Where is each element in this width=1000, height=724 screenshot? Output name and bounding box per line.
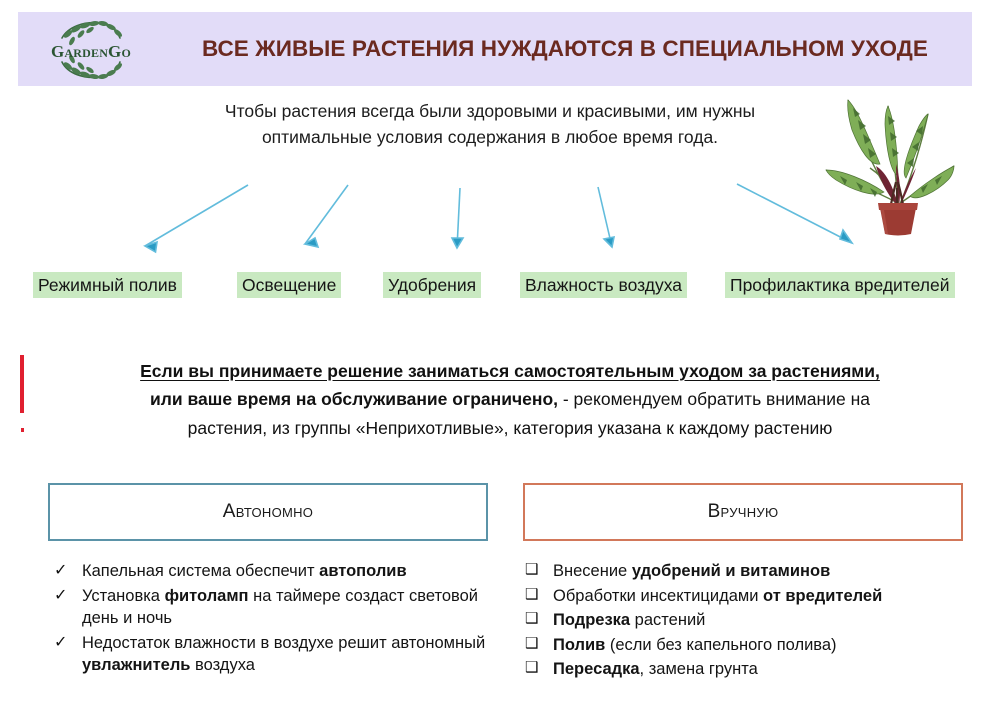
callout-line-2-bold: или ваше время на обслуживание ограничен… <box>150 389 558 409</box>
manual-list-item-text: Полив (если без капельного полива) <box>553 634 983 657</box>
autonomous-list-item-text: Капельная система обеспечит автополив <box>82 560 498 583</box>
arrow-line-1 <box>145 185 248 246</box>
manual-care-list: ❑Внесение удобрений и витаминов❑Обработк… <box>523 560 983 683</box>
autonomous-list-item[interactable]: ✓Капельная система обеспечит автополив <box>48 560 498 583</box>
autonomous-list-item[interactable]: ✓Установка фитоламп на таймере создаст с… <box>48 585 498 630</box>
callout-line-1: Если вы принимаете решение заниматься са… <box>140 361 880 381</box>
panel-manual-header[interactable]: Вручную <box>523 483 963 541</box>
manual-list-item[interactable]: ❑Пересадка, замена грунта <box>523 658 983 681</box>
subtitle-text: Чтобы растения всегда были здоровыми и к… <box>170 99 810 151</box>
arrow-head-4 <box>604 237 614 247</box>
check-mark-icon: ✓ <box>48 632 82 654</box>
callout-line-3: растения, из группы «Неприхотливые», кат… <box>188 418 833 438</box>
manual-list-item[interactable]: ❑Подрезка растений <box>523 609 983 632</box>
callout-text: Если вы принимаете решение заниматься са… <box>40 357 980 442</box>
arrow-head-3 <box>452 238 463 248</box>
arrow-head-1 <box>145 242 157 252</box>
arrow-line-3 <box>457 188 460 248</box>
manual-list-item[interactable]: ❑Полив (если без капельного полива) <box>523 634 983 657</box>
panel-autonomous-header[interactable]: Автономно <box>48 483 488 541</box>
check-mark-icon: ✓ <box>48 560 82 582</box>
empty-checkbox-icon[interactable]: ❑ <box>523 609 553 630</box>
autonomous-care-list: ✓Капельная система обеспечит автополив✓У… <box>48 560 498 679</box>
autonomous-list-item-text: Установка фитоламп на таймере создаст св… <box>82 585 498 630</box>
autonomous-list-item[interactable]: ✓Недостаток влажности в воздухе решит ав… <box>48 632 498 677</box>
empty-checkbox-icon[interactable]: ❑ <box>523 560 553 581</box>
empty-checkbox-icon[interactable]: ❑ <box>523 585 553 606</box>
quote-accent-dot <box>21 428 24 432</box>
panel-manual-title: Вручную <box>708 501 779 523</box>
subtitle-line-1: Чтобы растения всегда были здоровыми и к… <box>225 101 755 121</box>
callout-line-2-rest: - рекомендуем обратить внимание на <box>558 389 870 409</box>
manual-list-item-text: Внесение удобрений и витаминов <box>553 560 983 583</box>
brand-logo-text: GardenGo <box>32 42 150 62</box>
care-tag-fertilizer[interactable]: Удобрения <box>383 272 481 298</box>
quote-accent-bar <box>20 355 24 413</box>
page-title: ВСЕ ЖИВЫЕ РАСТЕНИЯ НУЖДАЮТСЯ В СПЕЦИАЛЬН… <box>165 12 965 86</box>
care-tag-watering[interactable]: Режимный полив <box>33 272 182 298</box>
care-tag-lighting[interactable]: Освещение <box>237 272 341 298</box>
panel-autonomous-title: Автономно <box>223 501 313 523</box>
manual-list-item[interactable]: ❑Обработки инсектицидами от вредителей <box>523 585 983 608</box>
empty-checkbox-icon[interactable]: ❑ <box>523 634 553 655</box>
empty-checkbox-icon[interactable]: ❑ <box>523 658 553 679</box>
brand-logo: GardenGo <box>32 16 150 84</box>
care-tag-list: Режимный полив Освещение Удобрения Влажн… <box>0 272 1000 298</box>
manual-list-item-text: Подрезка растений <box>553 609 983 632</box>
arrow-line-4 <box>598 187 612 247</box>
manual-list-item-text: Пересадка, замена грунта <box>553 658 983 681</box>
potted-calathea-plant-image <box>818 84 978 240</box>
care-tag-humidity[interactable]: Влажность воздуха <box>520 272 687 298</box>
autonomous-list-item-text: Недостаток влажности в воздухе решит авт… <box>82 632 498 677</box>
care-tag-pest-prevention[interactable]: Профилактика вредителей <box>725 272 955 298</box>
subtitle-line-2: оптимальные условия содержания в любое в… <box>262 127 718 147</box>
check-mark-icon: ✓ <box>48 585 82 607</box>
arrow-head-2 <box>305 238 318 247</box>
slide-canvas: GardenGo ВСЕ ЖИВЫЕ РАСТЕНИЯ НУЖДАЮТСЯ В … <box>0 0 1000 724</box>
manual-list-item[interactable]: ❑Внесение удобрений и витаминов <box>523 560 983 583</box>
arrow-line-2 <box>305 185 348 244</box>
manual-list-item-text: Обработки инсектицидами от вредителей <box>553 585 983 608</box>
